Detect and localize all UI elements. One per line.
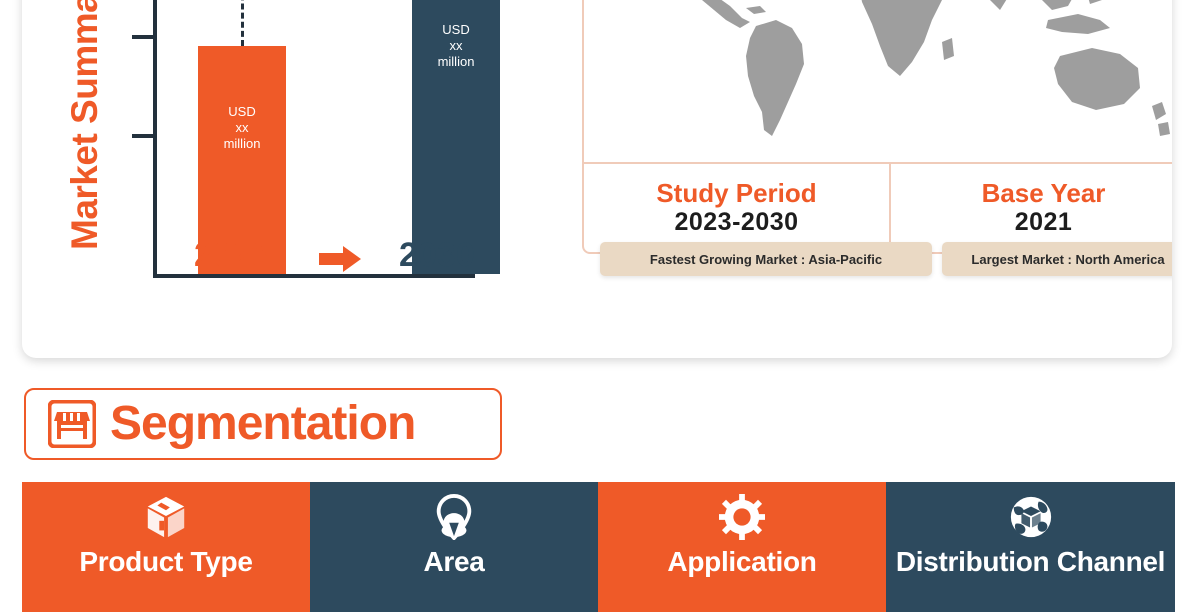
x-axis-label-2030: 2030 [399,236,475,275]
chart-projection-dashed-line [241,0,244,46]
study-period-value: 2023-2030 [674,208,798,236]
map-pin-icon [431,494,477,540]
fastest-growing-market-badge: Fastest Growing Market : Asia-Pacific [600,242,932,276]
gear-icon [719,494,765,540]
base-year-value: 2021 [1015,208,1073,236]
chart-axis-tick [132,35,154,39]
base-year-title: Base Year [982,178,1106,208]
chart-axis-tick [132,134,154,138]
study-period-title: Study Period [656,178,816,208]
x-axis-label-2023: 2023 [194,236,270,275]
chart-y-axis-label: Market Summary [64,0,106,250]
market-summary-card: Market Summary USD xx million USD xx mil… [22,0,1172,358]
largest-market-badge: Largest Market : North America [942,242,1172,276]
study-period-cell: Study Period 2023-2030 [584,164,889,250]
segment-label-product-type: Product Type [79,546,252,578]
globe-box-icon [1008,494,1054,540]
bar-2023-value: USD xx million [198,104,286,152]
segmentation-title: Segmentation [110,398,415,450]
study-period-table: Study Period 2023-2030 Base Year 2021 [584,162,1172,250]
arrow-right-icon [319,246,361,272]
segment-tile-application[interactable]: Application [598,482,886,612]
segment-tile-product-type[interactable]: Product Type [22,482,310,612]
world-map-svg [590,0,1172,164]
segment-label-distribution-channel: Distribution Channel [896,546,1165,578]
segmentation-tiles: Product Type Area App [22,482,1175,612]
chart-y-axis-line [153,0,157,278]
bar-2030-value: USD xx million [412,22,500,70]
storefront-icon [48,400,96,448]
segment-label-area: Area [423,546,484,578]
segment-tile-area[interactable]: Area [310,482,598,612]
box-3d-icon [143,494,189,540]
segmentation-header: Segmentation [24,388,502,460]
market-summary-chart: Market Summary USD xx million USD xx mil… [22,0,562,358]
base-year-cell: Base Year 2021 [889,164,1172,250]
segment-tile-distribution-channel[interactable]: Distribution Channel [886,482,1175,612]
segment-label-application: Application [667,546,816,578]
bar-2030: USD xx million [412,0,500,274]
world-map: Asia-Pacific [584,0,1172,162]
regional-map-panel: Asia-Pacific Study Period 2023-2030 Base… [582,0,1172,254]
